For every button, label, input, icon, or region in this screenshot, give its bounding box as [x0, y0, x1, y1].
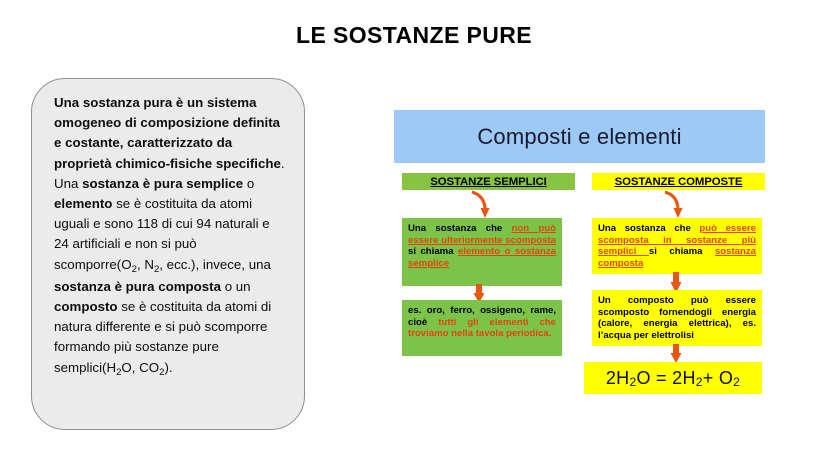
- info-box-definizione-composto: Una sostanza che può essere scomposta in…: [592, 218, 762, 274]
- arrow-right-header-to-box1-icon: [659, 190, 689, 220]
- column-header-sostanze-composte: SOSTANZE COMPOSTE: [592, 173, 765, 190]
- diagram-banner-label: Composti e elementi: [477, 124, 681, 150]
- diagram-composti-elementi: Composti e elementi SOSTANZE SEMPLICI SO…: [394, 110, 766, 400]
- column-header-sostanze-semplici: SOSTANZE SEMPLICI: [402, 173, 575, 190]
- diagram-banner: Composti e elementi: [394, 110, 765, 163]
- info-box-scomposizione-composto: Un composto può essere scomposto fornend…: [592, 290, 762, 346]
- arrow-ybox2-to-equation-icon: [666, 344, 686, 364]
- info-box-esempi-elementi: es. oro, ferro, ossigeno, rame, cioè tut…: [402, 300, 562, 356]
- page-title: LE SOSTANZE PURE: [0, 22, 828, 49]
- info-box-definizione-elemento: Una sostanza che non può essere ulterior…: [402, 218, 562, 286]
- definition-paragraph: Una sostanza pura è un sistema omogeneo …: [54, 93, 286, 380]
- arrow-left-header-to-box1-icon: [466, 190, 496, 220]
- definition-card: Una sostanza pura è un sistema omogeneo …: [31, 78, 305, 430]
- equation-elettrolisi-acqua: 2H2O = 2H2 + O2: [584, 362, 762, 394]
